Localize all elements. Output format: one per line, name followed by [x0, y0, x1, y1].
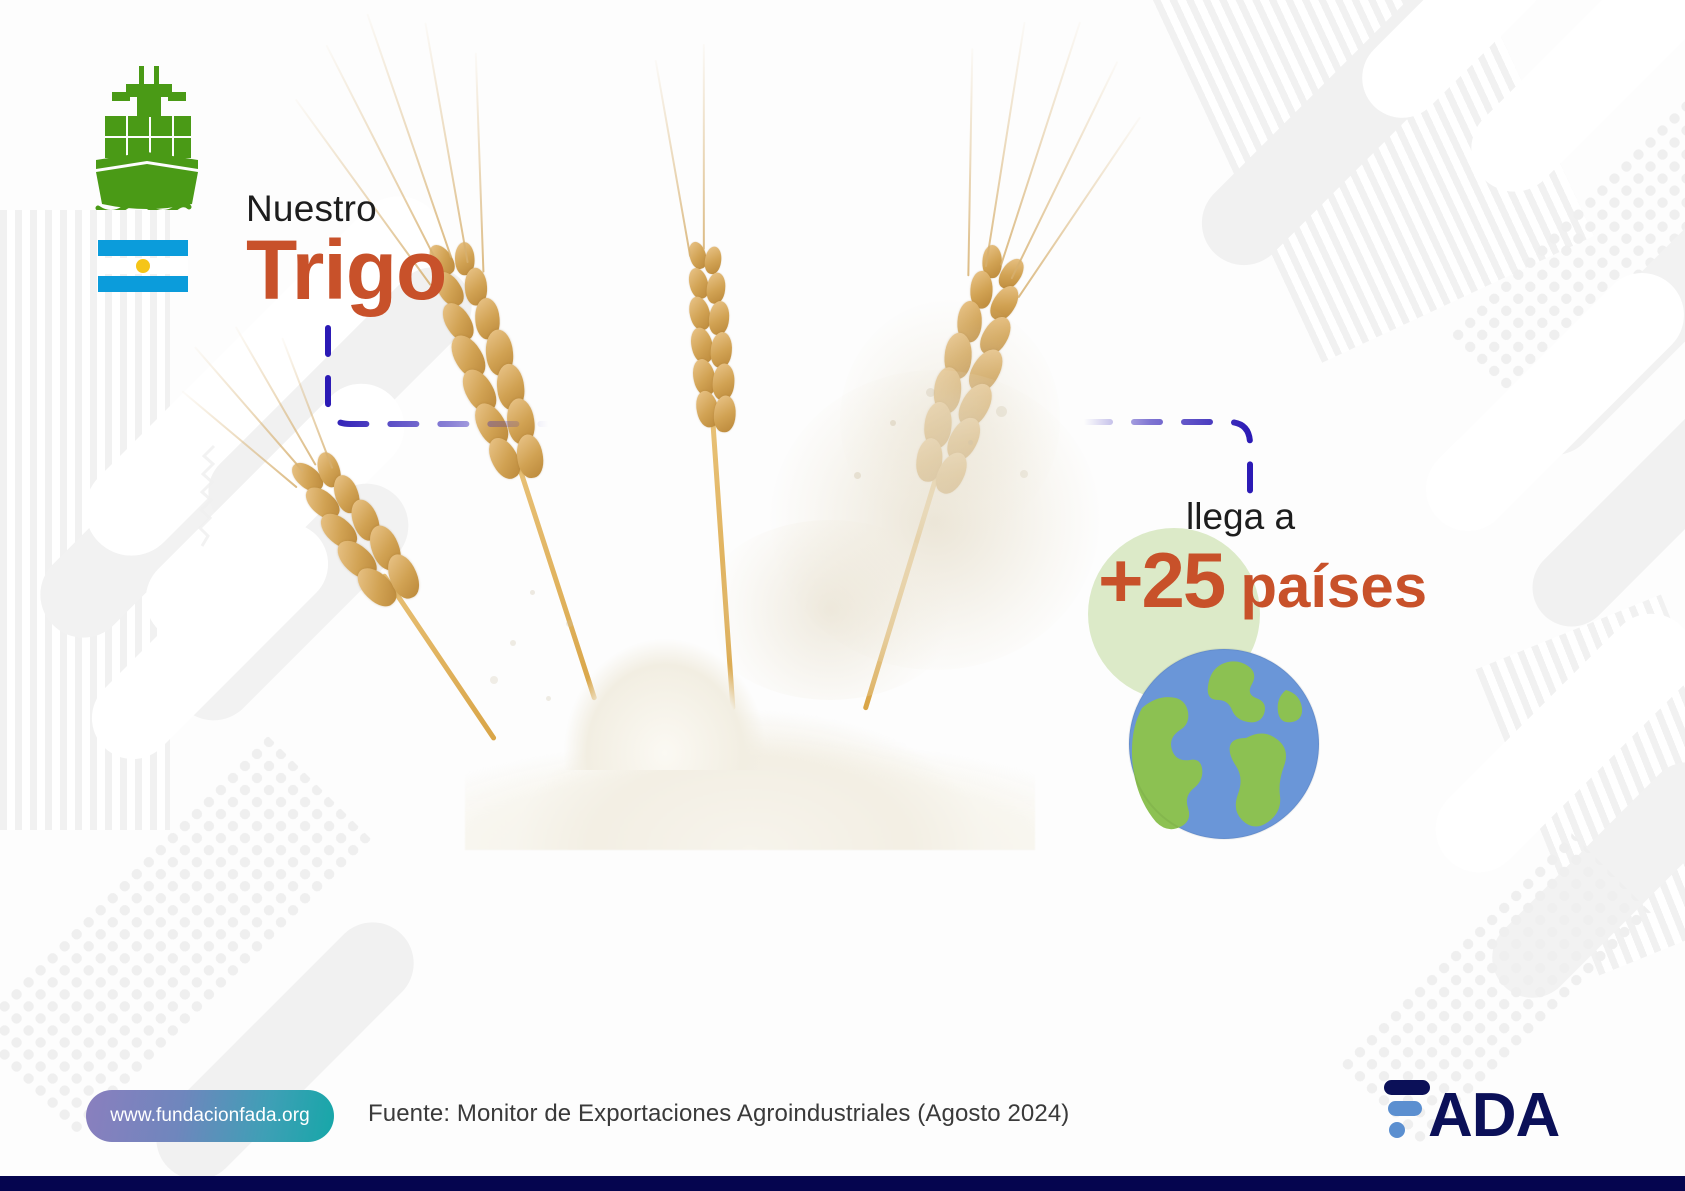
fada-logo-text: ADA — [1428, 1081, 1560, 1146]
stat-number: +25 — [1098, 541, 1224, 619]
stat-kicker: llega a — [1186, 498, 1608, 535]
cargo-ship-icon — [88, 62, 206, 210]
globe-americas-icon — [1126, 646, 1322, 842]
headline-kicker: Nuestro — [246, 190, 446, 227]
flour-spray — [840, 300, 1060, 540]
website-url-label: www.fundacionfada.org — [110, 1105, 310, 1127]
website-url-pill[interactable]: www.fundacionfada.org — [86, 1090, 334, 1142]
wheat-and-flour-image — [370, 120, 1110, 890]
infographic-canvas: Nuestro Trigo — [0, 0, 1685, 1191]
dashed-connector-right — [1080, 398, 1300, 508]
bottom-navy-rule — [0, 1176, 1685, 1191]
flour-pile-peak — [540, 560, 790, 770]
source-note: Fuente: Monitor de Exportaciones Agroind… — [368, 1100, 1069, 1128]
argentina-flag-icon — [98, 238, 188, 296]
fada-logo: ADA — [1382, 1072, 1614, 1146]
stat-block: llega a +25 países — [1088, 498, 1608, 619]
dashed-connector-left — [318, 320, 558, 460]
headline-block: Nuestro Trigo — [246, 190, 446, 311]
page-title: Trigo — [246, 229, 446, 311]
stat-unit: países — [1240, 557, 1427, 617]
stat-line: +25 países — [1098, 541, 1608, 619]
